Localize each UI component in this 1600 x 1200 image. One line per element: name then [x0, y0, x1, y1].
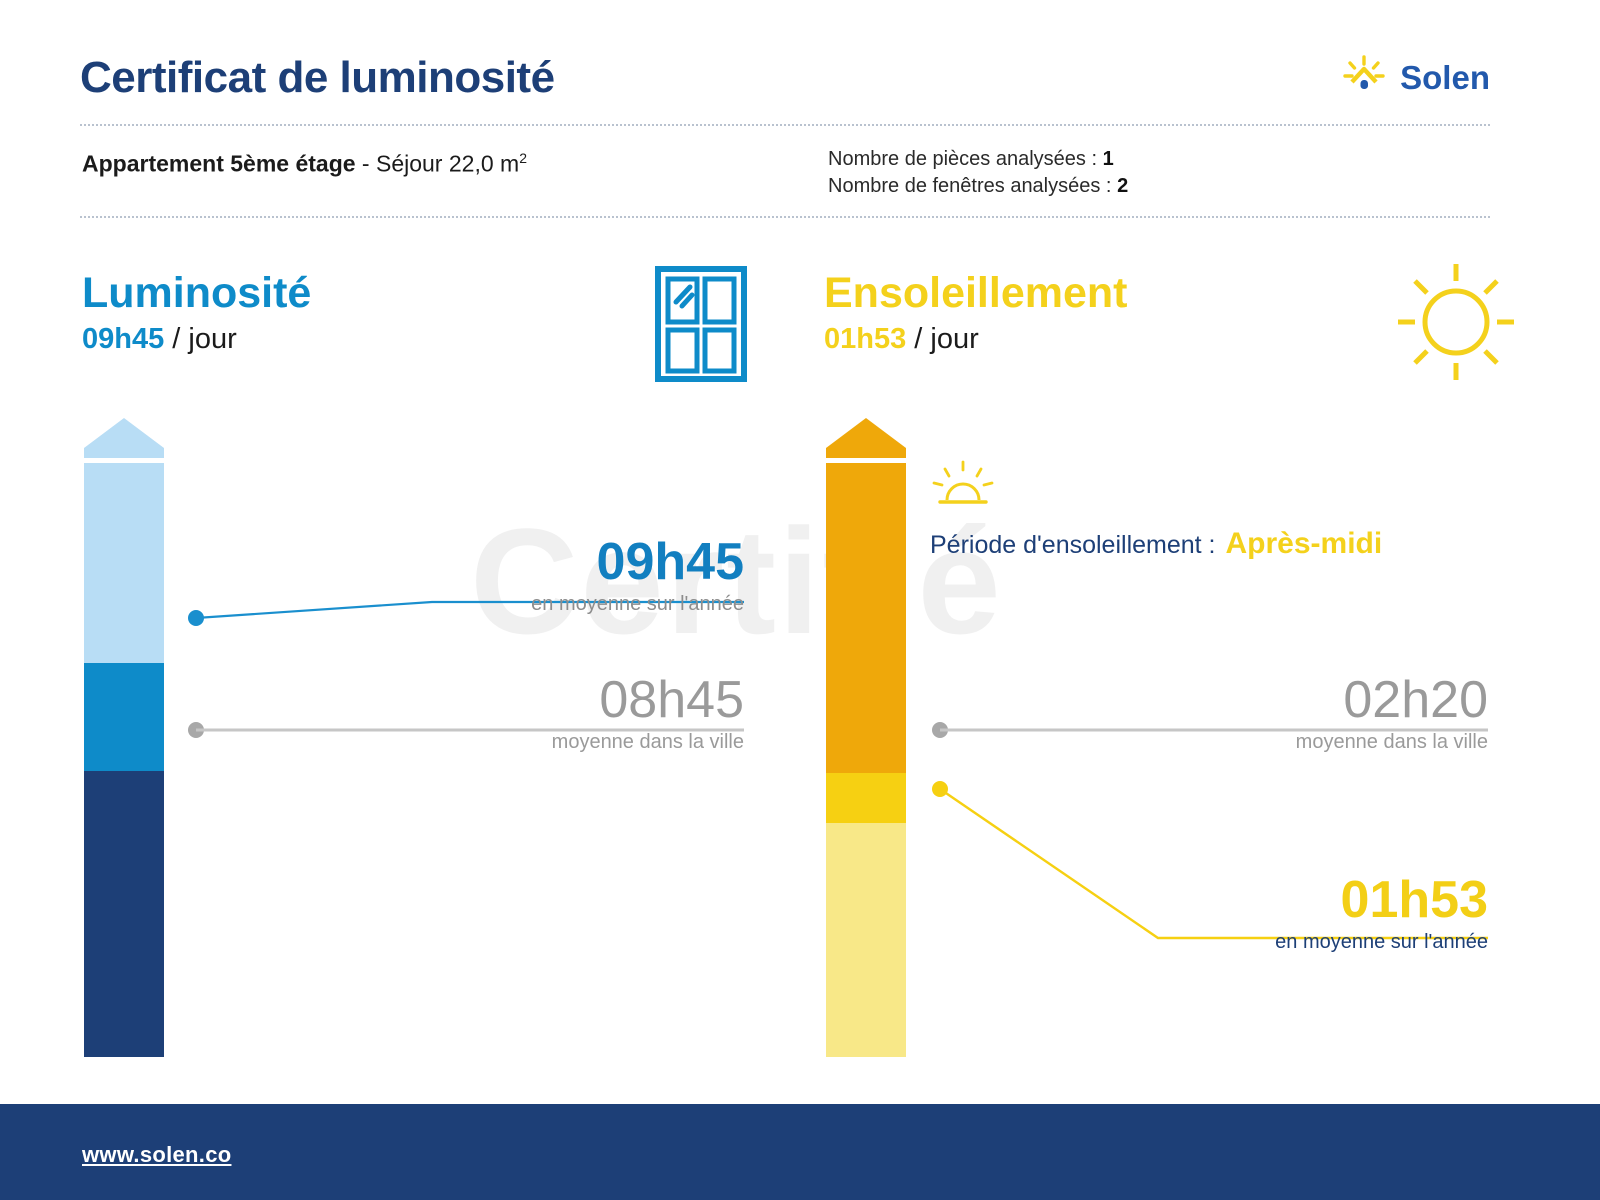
- property-detail: - Séjour 22,0 m: [356, 151, 520, 177]
- rooms-count-value: 1: [1103, 148, 1114, 170]
- luminosity-daily-unit: / jour: [172, 323, 236, 355]
- page-footer: [0, 1104, 1600, 1200]
- luminosity-year-marker-dot: [188, 610, 204, 626]
- sunlight-city-marker-dot: [932, 722, 948, 738]
- luminosity-city-caption: moyenne dans la ville: [360, 728, 744, 756]
- sunlight-year-marker-dot: [932, 781, 948, 797]
- sunlight-period-row: Période d'ensoleillement : Après-midi: [930, 527, 1500, 561]
- luminosity-subtitle: 09h45 / jour: [82, 318, 311, 360]
- sunlight-bar: [826, 418, 906, 1057]
- sunlight-daily-unit: / jour: [914, 323, 978, 355]
- property-area-exponent: 2: [519, 150, 527, 166]
- windows-count-label: Nombre de fenêtres analysées :: [828, 175, 1112, 197]
- luminosity-heading-block: Luminosité 09h45 / jour: [82, 268, 311, 360]
- page-header: Certificat de luminosité Solen: [80, 36, 1490, 120]
- property-description: Appartement 5ème étage - Séjour 22,0 m2: [82, 150, 527, 178]
- windows-count-row: Nombre de fenêtres analysées : 2: [828, 173, 1128, 200]
- annotation-leader-lines: [0, 0, 1600, 1200]
- luminosity-bar-arrow-icon: [84, 418, 164, 458]
- certificate-page: Certificat de luminosité Solen: [0, 0, 1600, 1200]
- brand-name: Solen: [1400, 59, 1490, 97]
- sunlight-heading-block: Ensoleillement 01h53 / jour: [824, 268, 1127, 360]
- luminosity-year-value: 09h45: [360, 534, 744, 590]
- luminosity-bar-segment-bottom: [84, 771, 164, 1057]
- luminosity-year-note: 09h45 en moyenne sur l'année: [360, 534, 744, 618]
- sunlight-bar-segment-top: [826, 463, 906, 773]
- window-icon: [655, 266, 747, 387]
- sunlight-city-caption: moyenne dans la ville: [1104, 728, 1488, 756]
- luminosity-city-value: 08h45: [360, 672, 744, 728]
- property-name: Appartement 5ème étage: [82, 151, 356, 177]
- sunlight-year-note: 01h53 en moyenne sur l'année: [1104, 872, 1488, 956]
- sunlight-bar-segment-bottom: [826, 823, 906, 1057]
- sunlight-period-value: Après-midi: [1226, 527, 1383, 561]
- luminosity-daily-value: 09h45: [82, 323, 164, 355]
- brand-logo: Solen: [1342, 54, 1490, 103]
- luminosity-city-marker-dot: [188, 722, 204, 738]
- header-divider: [80, 124, 1490, 126]
- sunlight-daily-value: 01h53: [824, 323, 906, 355]
- sun-icon: [1392, 258, 1520, 391]
- sunlight-year-value: 01h53: [1104, 872, 1488, 928]
- page-title: Certificat de luminosité: [80, 53, 555, 103]
- sunlight-period-block: Période d'ensoleillement : Après-midi: [930, 460, 1500, 561]
- rooms-count-row: Nombre de pièces analysées : 1: [828, 146, 1128, 173]
- sunlight-year-caption: en moyenne sur l'année: [1104, 928, 1488, 956]
- luminosity-year-caption: en moyenne sur l'année: [360, 590, 744, 618]
- luminosity-bar: [84, 418, 164, 1057]
- subheader-divider: [80, 216, 1490, 218]
- footer-website-link[interactable]: www.solen.co: [82, 1142, 231, 1168]
- sunlight-city-value: 02h20: [1104, 672, 1488, 728]
- rooms-count-label: Nombre de pièces analysées :: [828, 148, 1097, 170]
- sunlight-title: Ensoleillement: [824, 268, 1127, 318]
- sunlight-city-note: 02h20 moyenne dans la ville: [1104, 672, 1488, 756]
- luminosity-city-note: 08h45 moyenne dans la ville: [360, 672, 744, 756]
- sunlight-subtitle: 01h53 / jour: [824, 318, 1127, 360]
- luminosity-title: Luminosité: [82, 268, 311, 318]
- sunlight-bar-arrow-icon: [826, 418, 906, 458]
- luminosity-bar-segment-mid: [84, 663, 164, 771]
- solen-sun-logo-icon: [1342, 54, 1386, 103]
- sunrise-icon: [930, 495, 996, 512]
- luminosity-bar-segment-top: [84, 463, 164, 663]
- sunlight-bar-segment-mid: [826, 773, 906, 823]
- windows-count-value: 2: [1117, 175, 1128, 197]
- sunlight-period-label: Période d'ensoleillement :: [930, 531, 1216, 560]
- analysis-counts: Nombre de pièces analysées : 1 Nombre de…: [828, 146, 1128, 200]
